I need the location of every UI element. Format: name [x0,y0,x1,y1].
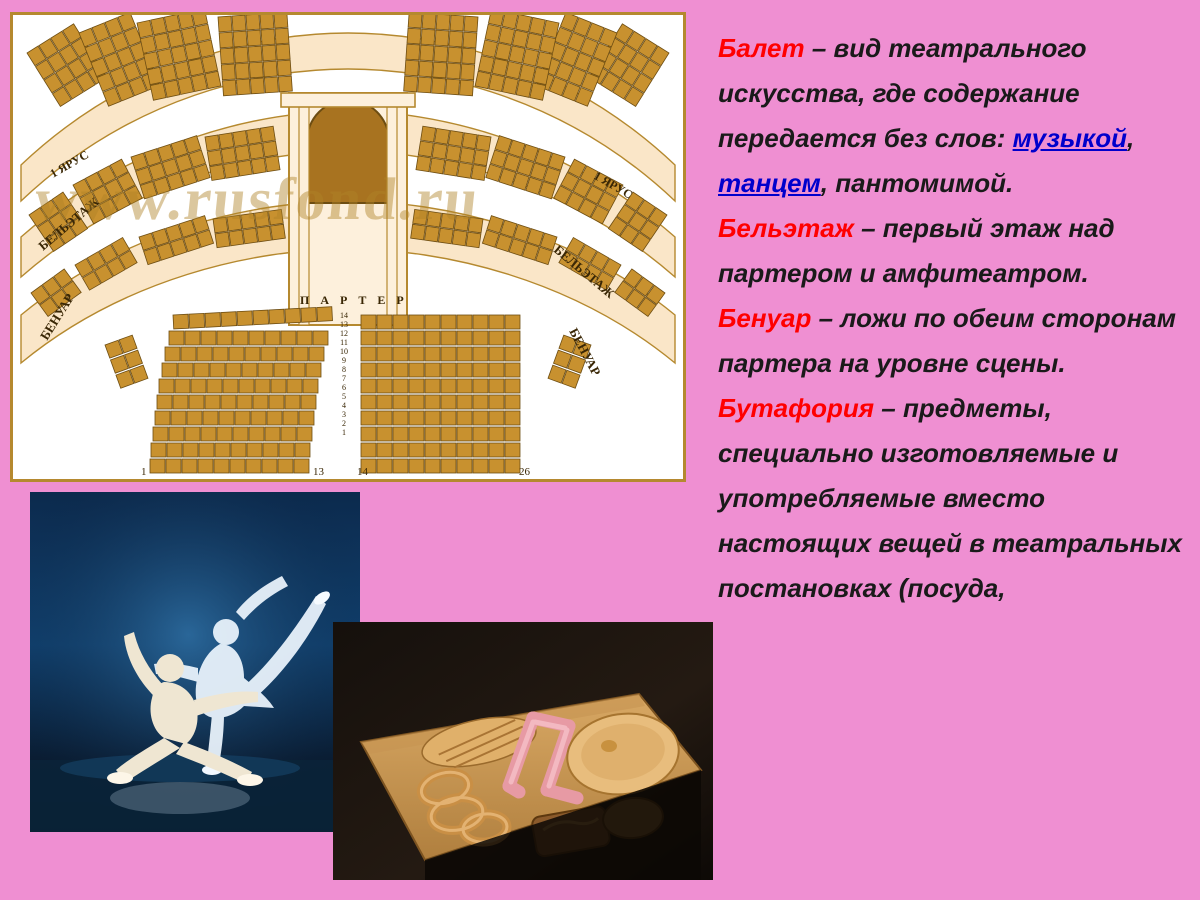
definition-ballet-tail: , пантомимой. [821,168,1014,198]
term-benoir: Бенуар [718,303,811,333]
dash-ballet: – [805,33,834,63]
row-number: 14 [335,311,353,320]
hall-plan-canvas: 1 ЯРУС 1 ЯРУС БЕЛЬЭТАЖ БЕЛЬЭТАЖ БЕНУАР Б… [13,15,683,479]
link-tancem[interactable]: танцем [718,168,821,198]
axis-number-left: 1 [141,466,147,478]
axis-number-right: 26 [519,466,531,478]
row-number: 1 [335,428,353,437]
term-butaforiya: Бутафория [718,393,874,423]
dash-belletage: – [854,213,883,243]
comma-separator: , [1127,123,1134,153]
term-ballet: Балет [718,33,805,63]
definitions-text-block: Балет – вид театрального искусства, где … [718,26,1188,611]
theatre-hall-plan-image: 1 ЯРУС 1 ЯРУС БЕЛЬЭТАЖ БЕЛЬЭТАЖ БЕНУАР Б… [10,12,686,482]
parter-label: П А Р Т Е Р [300,293,408,308]
row-number: 11 [335,338,353,347]
definition-butaforiya: Бутафория – предметы, специально изготов… [718,386,1188,611]
definition-ballet: Балет – вид театрального искусства, где … [718,26,1188,206]
axis-number-mid-right: 14 [357,466,369,478]
dash-benoir: – [811,303,840,333]
term-belletage: Бельэтаж [718,213,854,243]
definition-butaforiya-body: предметы, специально изготовляемые и упо… [718,393,1182,603]
row-number: 7 [335,374,353,383]
row-number: 2 [335,419,353,428]
row-number: 8 [335,365,353,374]
row-number: 13 [335,320,353,329]
ballet-photo-svg [30,492,360,832]
row-number: 4 [335,401,353,410]
slide: 1 ЯРУС 1 ЯРУС БЕЛЬЭТАЖ БЕЛЬЭТАЖ БЕНУАР Б… [0,0,1200,900]
props-photo-svg [333,622,713,880]
theatre-props-photo [333,622,713,880]
definition-benoir: Бенуар – ложи по обеим сторонам партера … [718,296,1188,386]
row-number: 5 [335,392,353,401]
row-number: 12 [335,329,353,338]
row-number: 10 [335,347,353,356]
link-muzykoi[interactable]: музыкой [1013,123,1127,153]
axis-number-mid-left: 13 [313,466,325,478]
dash-butaforiya: – [874,393,903,423]
ballet-duet-photo [30,492,360,832]
row-number: 3 [335,410,353,419]
row-number: 9 [335,356,353,365]
row-number-column: 14 13 12 11 10 9 8 7 6 5 4 3 2 1 [335,311,353,437]
definition-belletage: Бельэтаж – первый этаж над партером и ам… [718,206,1188,296]
row-number: 6 [335,383,353,392]
